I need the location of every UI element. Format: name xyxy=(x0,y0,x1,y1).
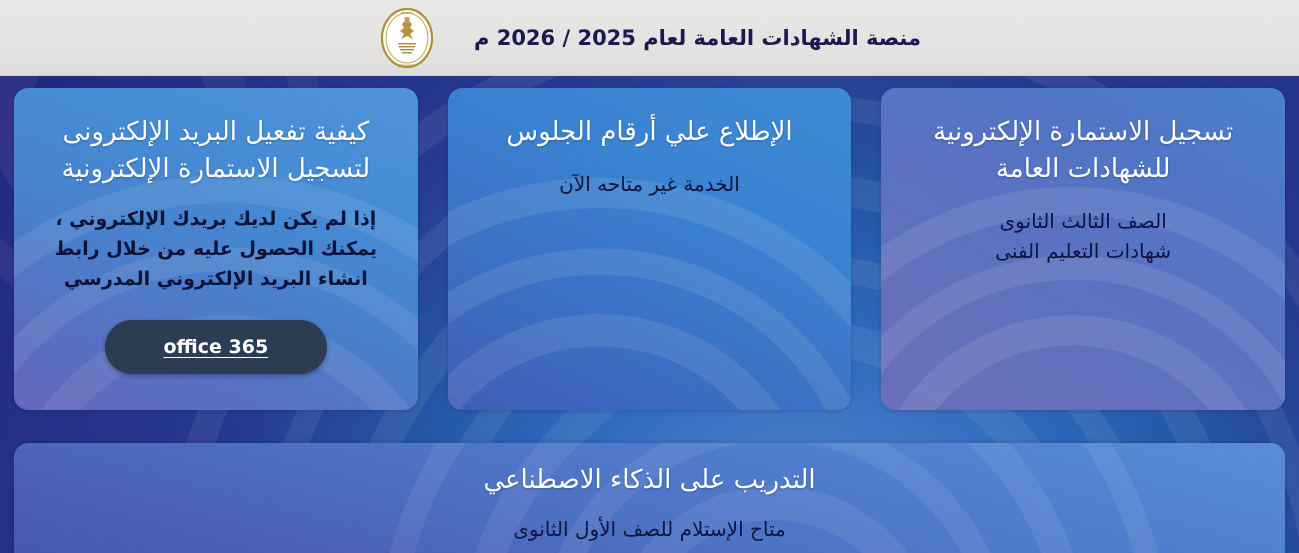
page-header: منصة الشهادات العامة لعام 2025 / 2026 م … xyxy=(0,0,1299,76)
card-title: الإطلاع علي أرقام الجلوس xyxy=(506,114,792,151)
service-cards-row: تسجيل الاستمارة الإلكترونية للشهادات الع… xyxy=(0,76,1299,410)
card-subtitle: الصف الثالث الثانوى شهادات التعليم الفنى xyxy=(995,206,1171,266)
page-title: منصة الشهادات العامة لعام 2025 / 2026 م xyxy=(474,26,921,50)
card-title: كيفية تفعيل البريد الإلكترونى لتسجيل الا… xyxy=(34,114,398,188)
card-subtitle-line-1: الصف الثالث الثانوى xyxy=(995,206,1171,236)
card-seat-numbers[interactable]: الإطلاع علي أرقام الجلوس الخدمة غير متاح… xyxy=(448,88,852,410)
svg-text:MINISTRY: MINISTRY xyxy=(401,11,414,15)
office-365-button[interactable]: office 365 xyxy=(105,320,327,374)
banner-subtitle: متاح الإستلام للصف الأول الثانوى xyxy=(513,517,786,541)
egypt-ministry-of-education-eagle-emblem-icon: MINISTRY EDUCATION xyxy=(378,7,436,69)
card-body-text: إذا لم يكن لديك بريدك الإلكتروني ، يمكنك… xyxy=(34,204,398,294)
banner-ai-training[interactable]: التدريب على الذكاء الاصطناعي متاح الإستل… xyxy=(14,443,1285,553)
card-subtitle-line-2: شهادات التعليم الفنى xyxy=(995,236,1171,266)
card-registration-form[interactable]: تسجيل الاستمارة الإلكترونية للشهادات الع… xyxy=(881,88,1285,410)
card-subtitle: الخدمة غير متاحه الآن xyxy=(559,169,740,199)
main-stage: تسجيل الاستمارة الإلكترونية للشهادات الع… xyxy=(0,76,1299,553)
banner-title: التدريب على الذكاء الاصطناعي xyxy=(483,465,815,495)
card-title: تسجيل الاستمارة الإلكترونية للشهادات الع… xyxy=(901,114,1265,188)
card-email-activation[interactable]: كيفية تفعيل البريد الإلكترونى لتسجيل الا… xyxy=(14,88,418,410)
svg-text:EDUCATION: EDUCATION xyxy=(399,63,414,67)
